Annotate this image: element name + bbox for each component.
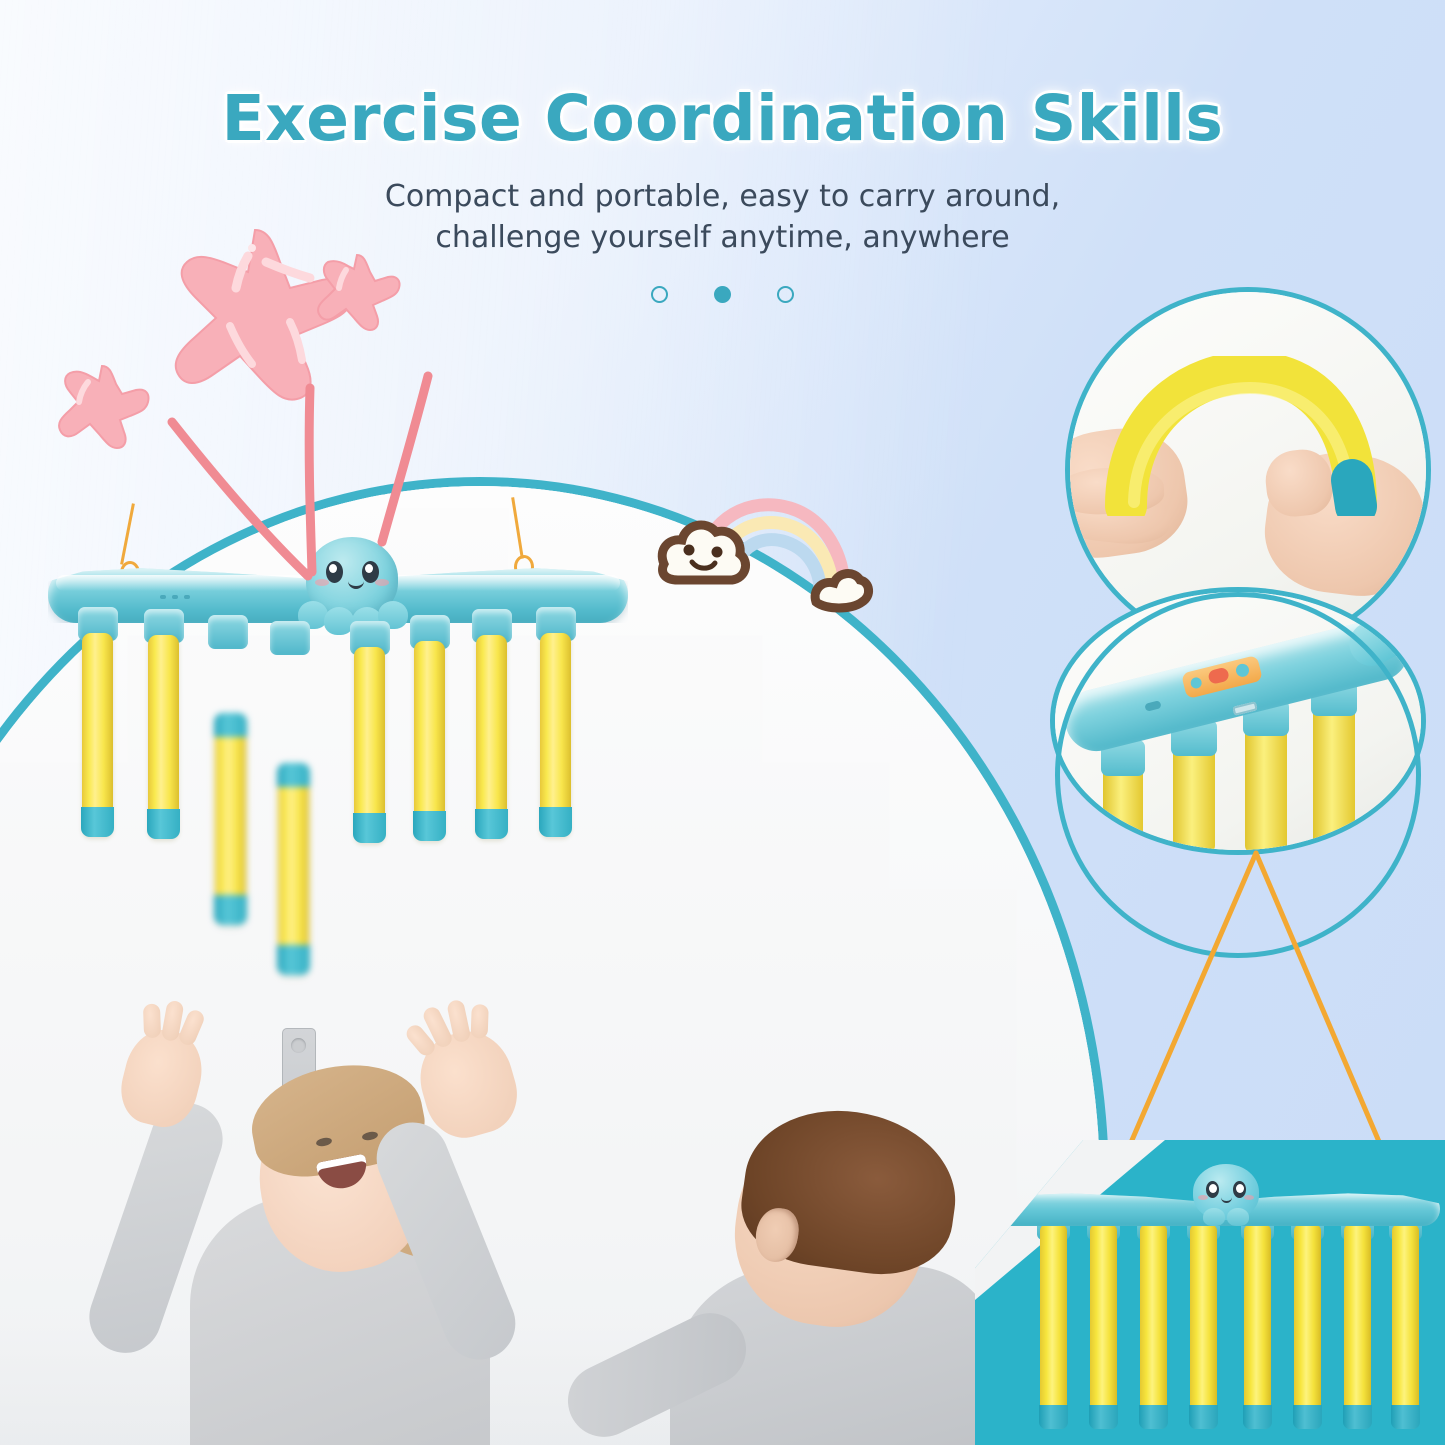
product-showcase-panel bbox=[975, 1140, 1445, 1445]
child-girl bbox=[110, 986, 580, 1445]
flexible-stick bbox=[1104, 356, 1394, 516]
panel-stick-2 bbox=[1090, 1224, 1117, 1429]
panel-stick-7 bbox=[1344, 1224, 1371, 1429]
page-title: Exercise Coordination Skills bbox=[0, 82, 1445, 155]
panel-stick-8 bbox=[1392, 1224, 1419, 1429]
product-marketing-image: Exercise Coordination Skills Compact and… bbox=[0, 0, 1445, 1445]
pagination-dot-3[interactable] bbox=[777, 286, 794, 303]
panel-stick-6 bbox=[1294, 1224, 1321, 1429]
stick-2 bbox=[148, 635, 179, 839]
cloud-eye-right bbox=[712, 547, 723, 558]
panel-stick-4 bbox=[1190, 1224, 1217, 1429]
cloud-eye-left bbox=[684, 545, 695, 556]
child-boy bbox=[560, 1066, 1030, 1445]
rainbow-cloud-decoration bbox=[630, 478, 880, 628]
pagination-dot-2[interactable] bbox=[714, 286, 731, 303]
stick-1 bbox=[82, 633, 113, 837]
pagination-dot-1[interactable] bbox=[651, 286, 668, 303]
subtitle-line-1: Compact and portable, easy to carry arou… bbox=[0, 176, 1445, 217]
stick-3-falling bbox=[215, 713, 246, 925]
panel-stick-3 bbox=[1140, 1224, 1167, 1429]
panel-stick-1 bbox=[1040, 1224, 1067, 1429]
panel-indicator bbox=[1207, 667, 1230, 685]
star-streaks bbox=[60, 360, 560, 610]
panel-stick-5 bbox=[1244, 1224, 1271, 1429]
panel-button-1 bbox=[1189, 676, 1202, 689]
stick-5 bbox=[354, 647, 385, 843]
panel-octopus-head-icon bbox=[1193, 1164, 1259, 1220]
star-small-right-icon bbox=[312, 250, 402, 332]
stick-6 bbox=[414, 641, 445, 841]
stick-7 bbox=[476, 635, 507, 839]
inset-control-panel bbox=[1055, 592, 1421, 850]
stick-4-falling bbox=[278, 763, 309, 975]
stick-8 bbox=[540, 633, 571, 837]
panel-button-2 bbox=[1235, 662, 1251, 678]
